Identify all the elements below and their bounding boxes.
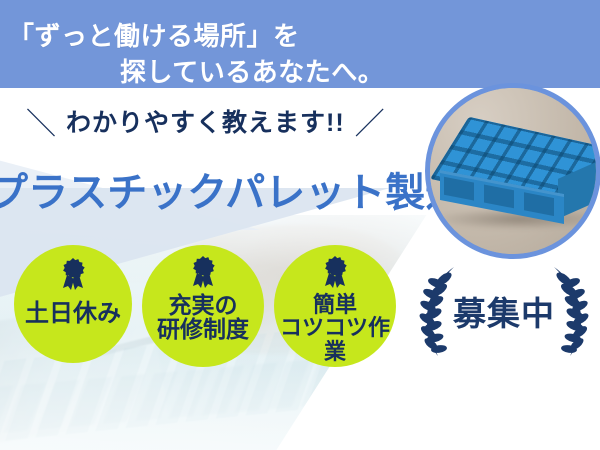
badge-label: 充実の 研修制度 bbox=[157, 293, 249, 342]
plastic-pallet-illustration bbox=[434, 132, 600, 228]
header-band: 「ずっと働ける場所」を 探しているあなたへ。 bbox=[0, 0, 600, 88]
page-title: プラスチックパレット製造 bbox=[0, 160, 465, 218]
badge-label: 土日休み bbox=[25, 301, 121, 326]
badge-label-line2: 研修制度 bbox=[157, 316, 249, 342]
badge-weekends-off: 土日休み bbox=[14, 245, 132, 363]
rosette-ribbon-icon bbox=[58, 257, 88, 291]
slash-left-icon: ＼ bbox=[26, 99, 56, 143]
rosette-ribbon-icon bbox=[188, 255, 218, 289]
recruiting-emblem: 募集中 bbox=[414, 263, 594, 359]
rosette-ribbon-icon bbox=[320, 255, 350, 289]
recruitment-banner: 「ずっと働ける場所」を 探しているあなたへ。 ＼ わかりやすく教えます!! ／ … bbox=[0, 0, 600, 450]
subheadline-text: わかりやすく教えます!! bbox=[66, 103, 345, 139]
header-line-1: 「ずっと働ける場所」を bbox=[8, 16, 300, 53]
badge-label: 簡単 コツコツ作業 bbox=[274, 293, 396, 363]
badge-label-line1: 簡単 bbox=[313, 292, 357, 317]
subheadline: ＼ わかりやすく教えます!! ／ bbox=[26, 99, 385, 143]
pallet-photo-circle bbox=[425, 83, 600, 259]
badge-simple-work: 簡単 コツコツ作業 bbox=[274, 245, 396, 367]
slash-right-icon: ／ bbox=[355, 99, 385, 143]
badge-label-line2: コツコツ作業 bbox=[280, 315, 390, 363]
header-line-2: 探しているあなたへ。 bbox=[120, 52, 384, 89]
recruiting-label: 募集中 bbox=[453, 287, 555, 335]
badge-label-line1: 充実の bbox=[169, 292, 238, 318]
badge-training-program: 充実の 研修制度 bbox=[142, 245, 264, 367]
